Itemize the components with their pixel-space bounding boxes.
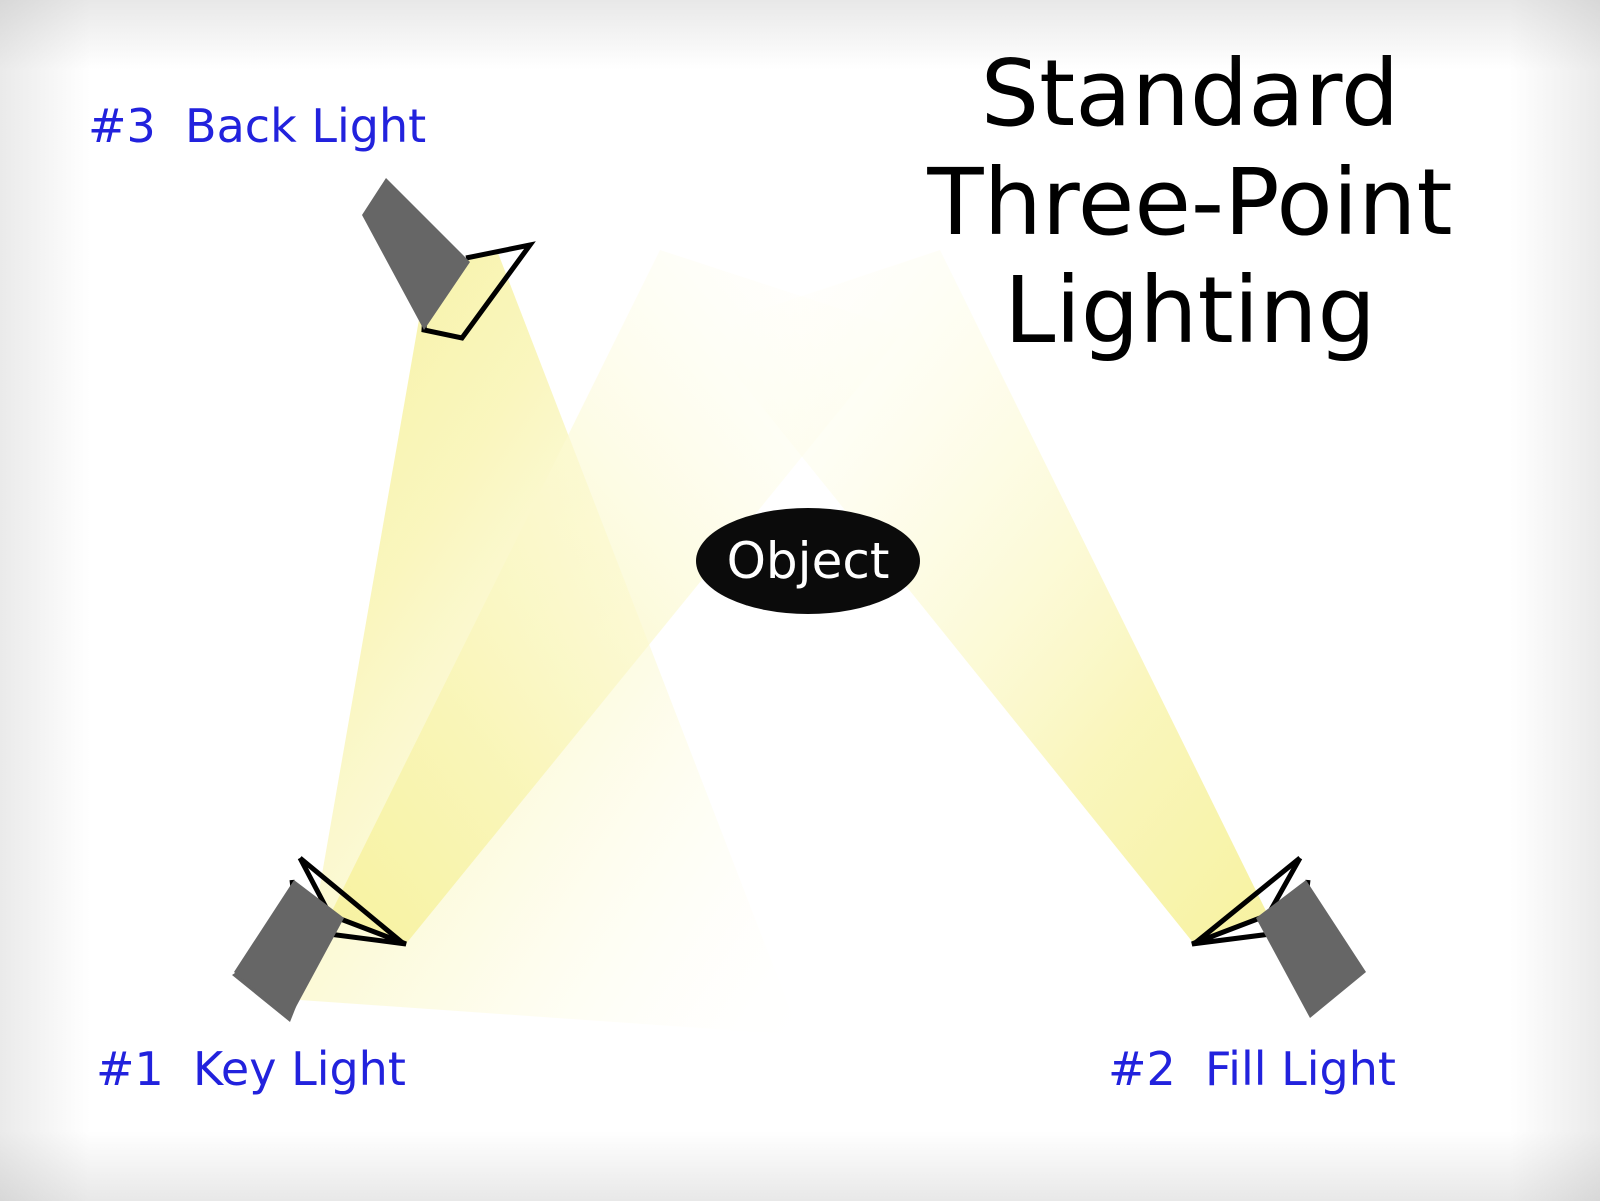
object-label: Object [727, 532, 890, 590]
title-line-1: Standard [880, 40, 1500, 149]
fill-light-body [1256, 880, 1366, 1018]
page-title: Standard Three-Point Lighting [880, 40, 1500, 366]
fill-light-label: #2 Fill Light [1108, 1046, 1396, 1092]
key-light-label: #1 Key Light [96, 1046, 406, 1092]
title-line-3: Lighting [880, 257, 1500, 366]
back-light-label: #3 Back Light [88, 103, 426, 149]
object-node[interactable]: Object [696, 508, 920, 614]
lighting-diagram-slide: Object Standard Three-Point Lighting #3 … [0, 0, 1600, 1201]
title-line-2: Three-Point [880, 149, 1500, 258]
